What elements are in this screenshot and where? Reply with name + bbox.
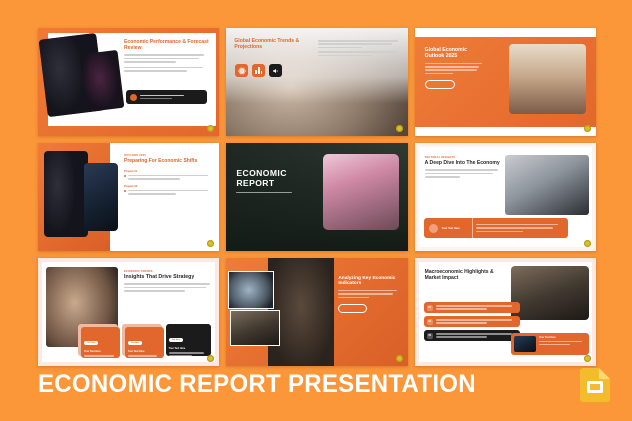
slide-thumbnail-6[interactable]: Sectoral Insights A Deep Dive Into The E…	[415, 143, 596, 251]
slide-thumbnail-1[interactable]: Economic Performance & Forecast Review	[38, 28, 219, 136]
slide-9-logo	[584, 355, 591, 362]
slide-thumbnail-3[interactable]: Global Economic Outlook 2025	[415, 28, 596, 136]
slide-thumbnail-5[interactable]: ECONOMIC REPORT	[226, 143, 407, 251]
slide-1-body	[124, 54, 211, 71]
slide-7-title: Insights That Drive Strategy	[124, 275, 211, 281]
slide-1-image-secondary	[80, 50, 125, 112]
slide-thumbnail-8[interactable]: Analyzing Key Economic Indicators	[226, 258, 407, 366]
slide-4-eyebrow: Outlook 2025	[124, 154, 211, 157]
slide-1-badge-bar	[126, 90, 207, 104]
slide-4-logo	[207, 240, 214, 247]
slide-7-card-3: Text Here Your Text Here	[166, 324, 212, 356]
slide-9-side-card: Your Text Here	[511, 333, 589, 355]
slide-6-callout: Your Text Here	[424, 218, 568, 238]
slide-2-logo	[396, 125, 403, 132]
slide-thumbnail-4[interactable]: Outlook 2025 Preparing For Economic Shif…	[38, 143, 219, 251]
atom-icon	[235, 64, 248, 77]
slide-1-title: Economic Performance & Forecast Review	[124, 40, 211, 51]
slide-6-logo	[584, 240, 591, 247]
slide-4-image-secondary	[84, 163, 118, 231]
slide-6-image	[505, 155, 589, 215]
slide-3-image	[509, 44, 586, 114]
slide-5-subtitle	[236, 192, 292, 194]
slide-7-body	[124, 283, 211, 291]
google-slides-icon	[580, 368, 610, 402]
slide-3-title: Global Economic Outlook 2025	[425, 48, 487, 60]
slide-8-body	[338, 290, 400, 298]
slide-4-item-1: Project 01	[124, 169, 211, 181]
slide-6-eyebrow: Sectoral Insights	[425, 156, 501, 159]
slide-8-title: Analyzing Key Economic Indicators	[338, 276, 400, 287]
slide-8-cta-button[interactable]	[338, 304, 367, 313]
slide-2-title: Global Economic Trends & Projections	[234, 39, 312, 50]
slide-thumbnail-7[interactable]: Economic Trends Insights That Drive Stra…	[38, 258, 219, 366]
slide-9-bar-1: 01	[424, 302, 520, 313]
megaphone-icon	[269, 64, 282, 77]
slide-1-logo	[207, 125, 214, 132]
slide-6-body	[425, 169, 501, 177]
slide-3-cta-button[interactable]	[425, 80, 455, 89]
bar-chart-icon	[252, 64, 265, 77]
slide-9-bar-2: 02	[424, 316, 520, 327]
slide-3-body	[425, 63, 487, 75]
slide-4-item-2: Project 02	[124, 184, 211, 196]
slide-8-logo	[396, 355, 403, 362]
slide-6-title: A Deep Dive Into The Economy	[425, 161, 501, 167]
slide-3-logo	[584, 125, 591, 132]
slide-thumbnail-2[interactable]: Global Economic Trends & Projections	[226, 28, 407, 136]
slide-2-body	[318, 40, 401, 58]
slide-4-image	[44, 151, 88, 237]
page-title: ECONOMIC REPORT PRESENTATION	[38, 370, 476, 399]
slide-9-bar-3: 03	[424, 330, 520, 341]
slide-5-image	[323, 154, 399, 230]
slide-7-eyebrow: Economic Trends	[124, 270, 211, 273]
slide-4-title: Preparing For Economic Shifts	[124, 159, 211, 165]
slide-7-card-2-shadow: Text Here Your Text Here	[122, 324, 162, 356]
slide-9-title: Macroeconomic Highlights & Market Impact	[425, 270, 503, 281]
slide-8-image-2	[230, 310, 280, 346]
slide-7-card-1-shadow: Text Here Your Text Here	[78, 324, 118, 356]
slide-9-image	[511, 266, 589, 320]
slide-thumbnail-grid: Economic Performance & Forecast Review G…	[38, 28, 596, 366]
slide-8-image-1	[228, 271, 274, 309]
slide-5-title-line2: REPORT	[236, 179, 292, 189]
slide-thumbnail-9[interactable]: Macroeconomic Highlights & Market Impact…	[415, 258, 596, 366]
